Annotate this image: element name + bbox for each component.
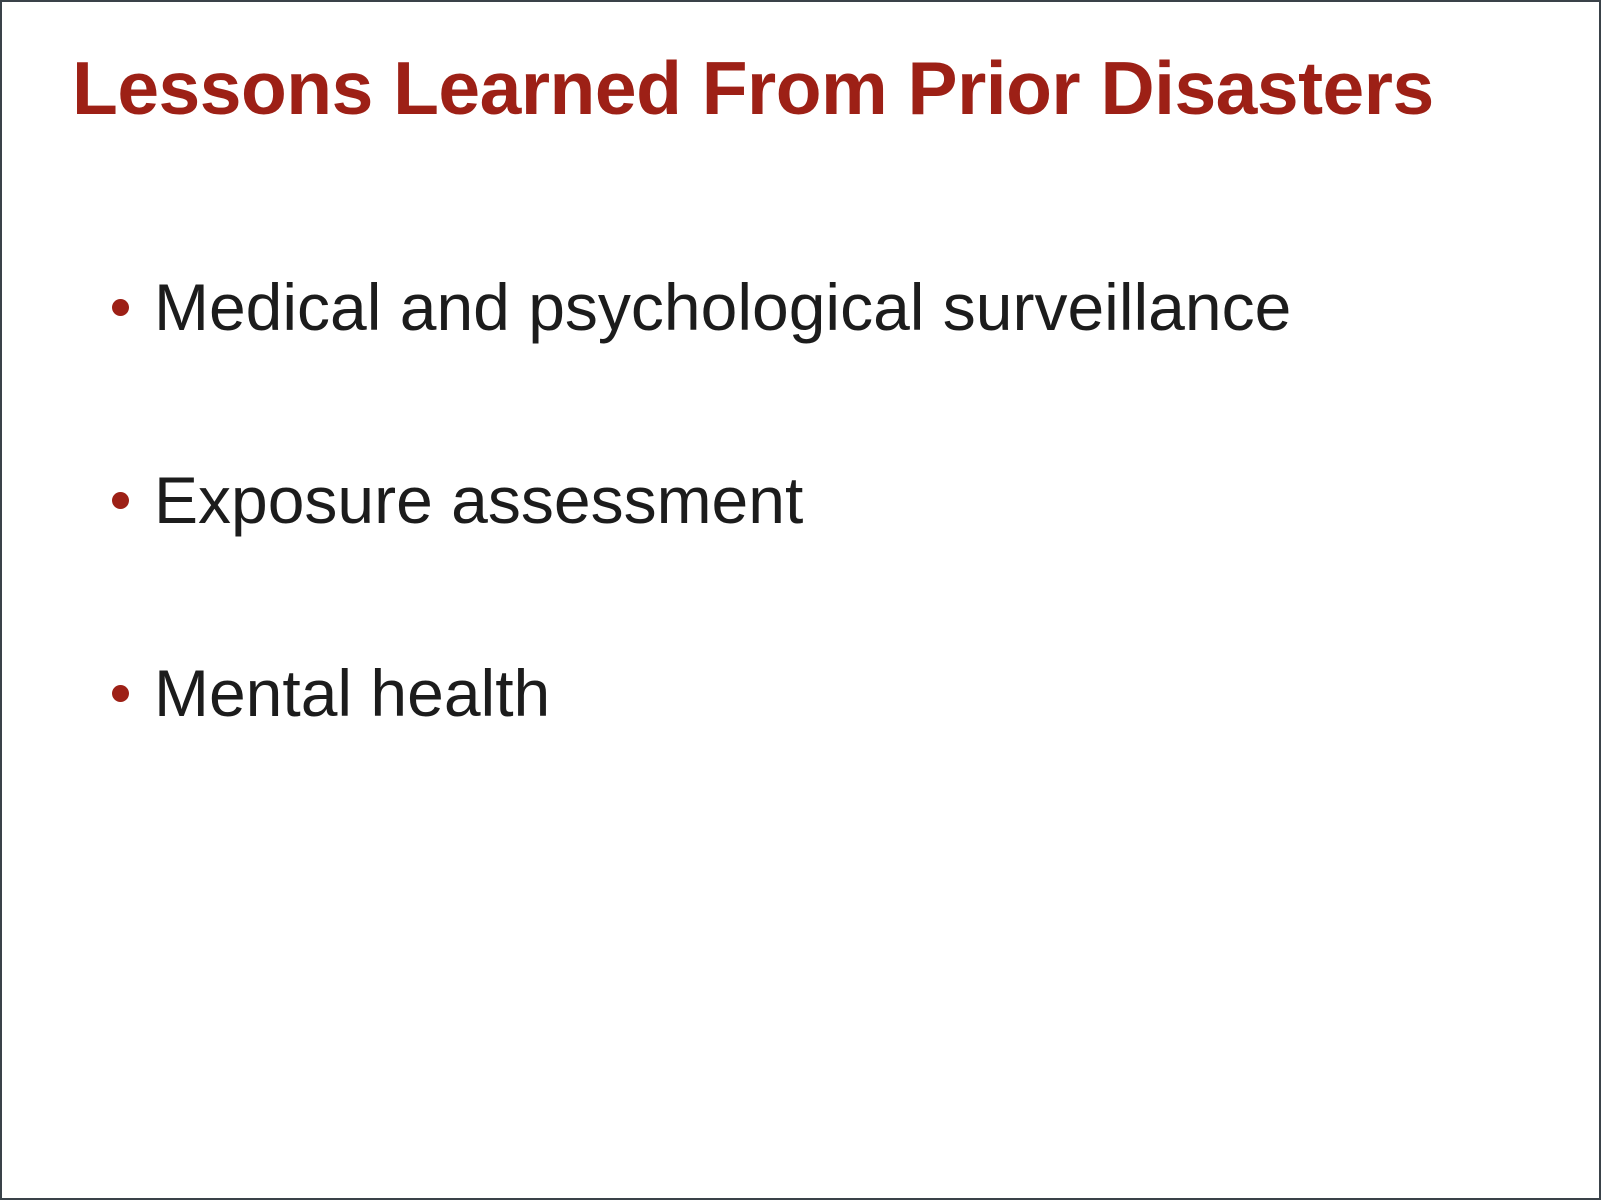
bullet-list: Medical and psychological surveillance E… bbox=[112, 274, 1532, 853]
list-item: Medical and psychological surveillance bbox=[112, 274, 1532, 467]
page-title: Lessons Learned From Prior Disasters bbox=[72, 48, 1532, 129]
bullet-dot-icon bbox=[112, 299, 129, 316]
list-item: Exposure assessment bbox=[112, 467, 1532, 660]
bullet-item-label: Medical and psychological surveillance bbox=[154, 274, 1291, 341]
bullet-dot-icon bbox=[112, 685, 129, 702]
list-item: Mental health bbox=[112, 660, 1532, 853]
bullet-dot-icon bbox=[112, 492, 129, 509]
bullet-item-label: Mental health bbox=[154, 660, 550, 727]
bullet-item-label: Exposure assessment bbox=[154, 467, 803, 534]
presentation-slide: Lessons Learned From Prior Disasters Med… bbox=[0, 0, 1601, 1200]
